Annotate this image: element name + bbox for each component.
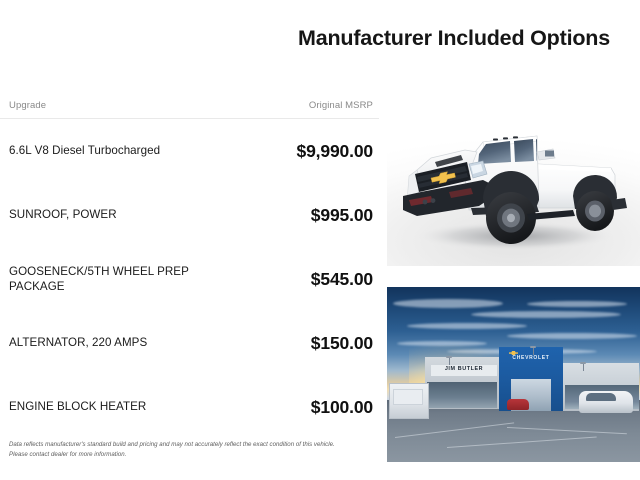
cloud: [407, 323, 527, 329]
disclaimer-line-1: Data reflects manufacturer's standard bu…: [9, 440, 369, 450]
column-header-msrp: Original MSRP: [309, 100, 374, 111]
vehicle-options-page: Manufacturer Included Options Upgrade Or…: [0, 0, 640, 480]
option-price: $545.00: [311, 269, 374, 290]
light-pole-head: [530, 346, 536, 348]
vehicle-photo: [387, 92, 640, 266]
option-price: $150.00: [311, 333, 374, 354]
light-pole: [533, 348, 534, 355]
cloud: [527, 301, 627, 307]
showroom-left-windows: [427, 382, 497, 408]
option-price: $9,990.00: [296, 141, 374, 162]
cloud: [471, 311, 621, 318]
box-truck-panel: [393, 389, 423, 405]
option-name: GOOSENECK/5TH WHEEL PREP PACKAGE: [9, 264, 241, 295]
page-title: Manufacturer Included Options: [294, 26, 614, 51]
table-row: ENGINE BLOCK HEATER $100.00: [0, 375, 379, 439]
table-row: 6.6L V8 Diesel Turbocharged $9,990.00: [0, 119, 379, 183]
light-pole: [449, 358, 450, 365]
lot-vehicle-glass: [586, 393, 616, 401]
option-name: ENGINE BLOCK HEATER: [9, 399, 146, 414]
brand-name-sign: CHEVROLET: [503, 355, 559, 361]
light-pole: [583, 364, 584, 371]
dealership-photo: JIM BUTLER CHEVROLET: [387, 287, 640, 462]
table-row: GOOSENECK/5TH WHEEL PREP PACKAGE $545.00: [0, 247, 379, 311]
dealership-scene: JIM BUTLER CHEVROLET: [387, 287, 640, 462]
column-header-upgrade: Upgrade: [9, 100, 46, 111]
lot-vehicle-red: [507, 399, 529, 410]
disclaimer-text: Data reflects manufacturer's standard bu…: [9, 440, 369, 460]
table-row: SUNROOF, POWER $995.00: [0, 183, 379, 247]
light-pole-head: [446, 356, 452, 358]
option-name: SUNROOF, POWER: [9, 207, 117, 222]
option-price: $995.00: [311, 205, 374, 226]
pickup-truck-illustration: [387, 92, 640, 266]
dealer-name-sign: JIM BUTLER: [431, 366, 497, 372]
option-price: $100.00: [311, 397, 374, 418]
table-row: ALTERNATOR, 220 AMPS $150.00: [0, 311, 379, 375]
cloud: [507, 333, 637, 339]
option-name: ALTERNATOR, 220 AMPS: [9, 335, 147, 350]
included-options-table: Upgrade Original MSRP 6.6L V8 Diesel Tur…: [0, 92, 379, 439]
light-pole-head: [580, 362, 586, 364]
cloud: [393, 299, 503, 308]
disclaimer-line-2: Please contact dealer for more informati…: [9, 450, 369, 460]
option-name: 6.6L V8 Diesel Turbocharged: [9, 143, 160, 158]
table-header-row: Upgrade Original MSRP: [0, 92, 379, 119]
